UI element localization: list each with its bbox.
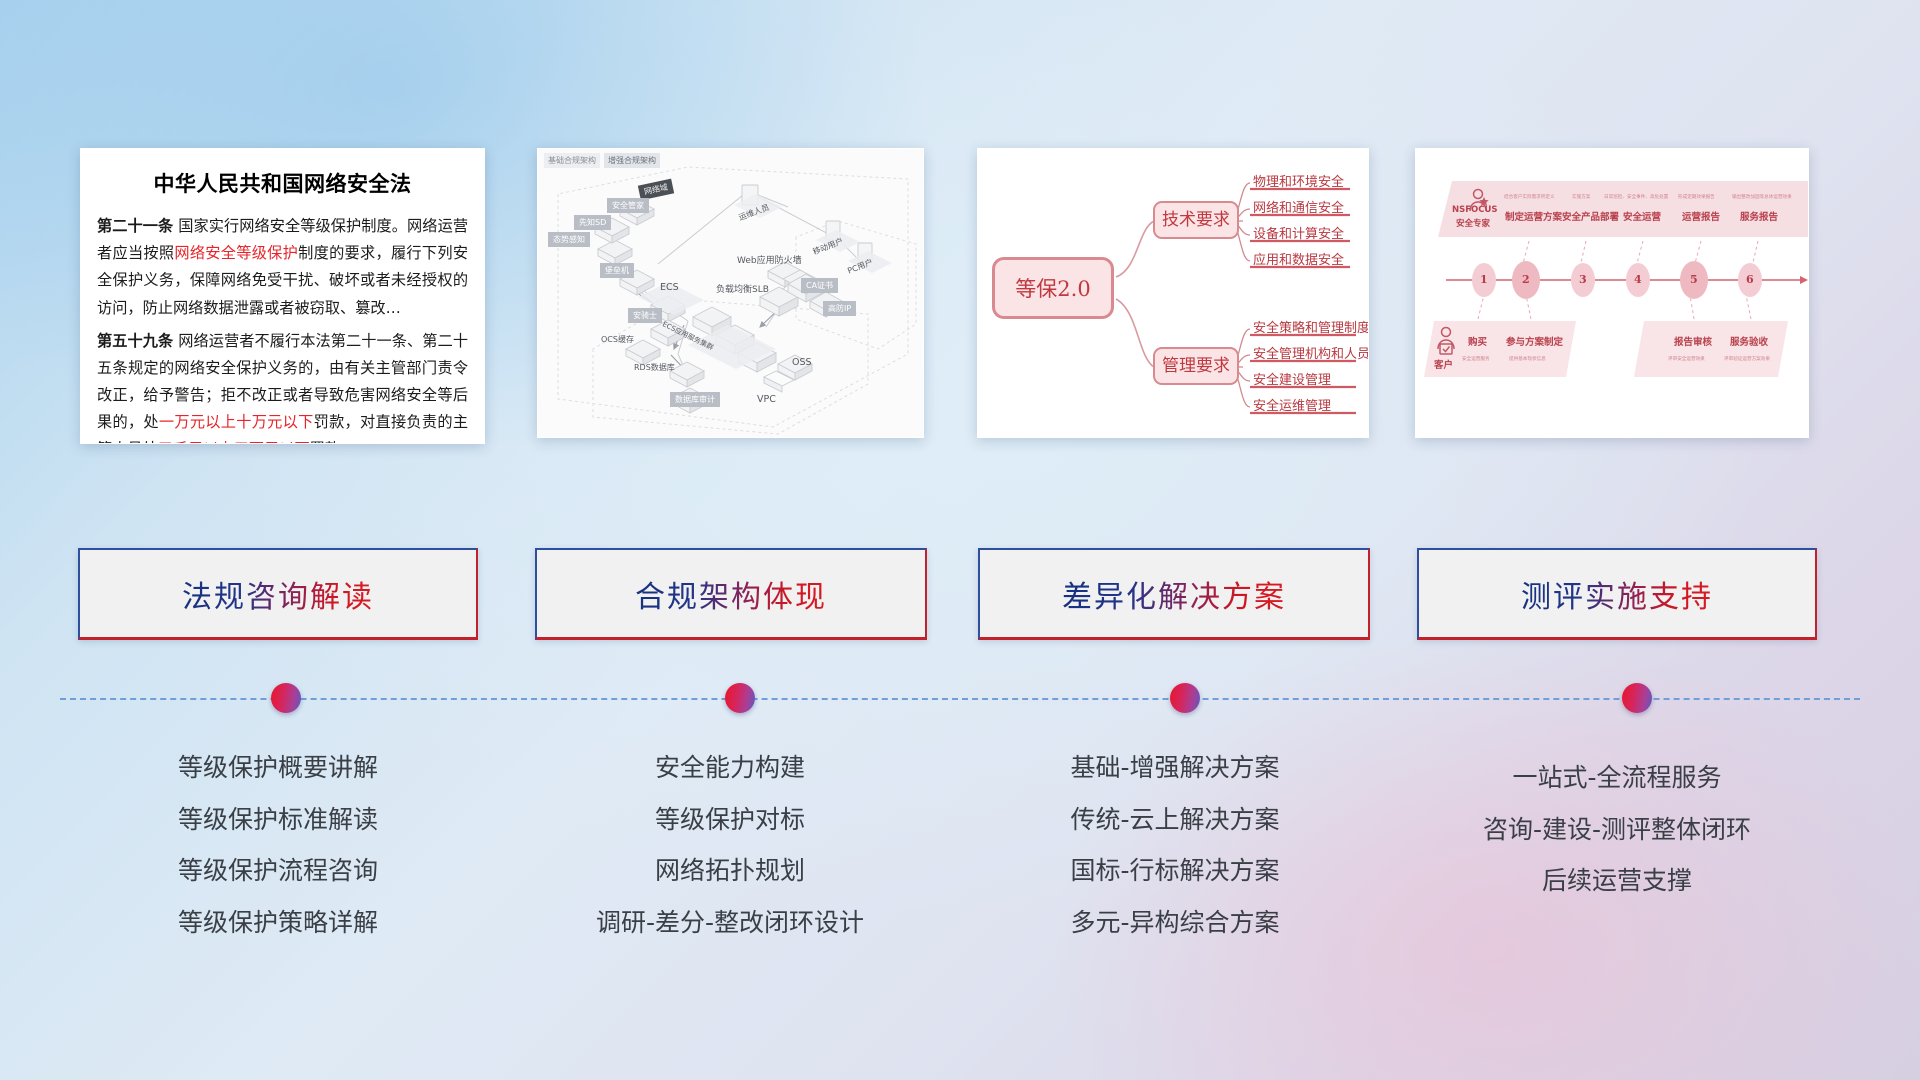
bottom-title-2: 参与方案制定 [1506, 334, 1563, 348]
list-item: 等级保护策略详解 [78, 897, 478, 949]
detail-column-4: 一站式-全流程服务 咨询-建设-测评整体闭环 后续运营支撑 [1412, 752, 1822, 907]
mindmap-branch-management: 管理要求 [1153, 347, 1239, 385]
card-nsfocus-process[interactable]: NSFOCUS 安全专家 客户 结合客户实际需求所定义 制定运营方案 实施方案 … [1415, 148, 1809, 438]
step-number-2: 2 [1522, 273, 1530, 286]
top-sub-4: 形成定期效果报告 [1678, 194, 1715, 200]
node-vpc: VPC [757, 394, 776, 405]
list-item: 传统-云上解决方案 [975, 794, 1375, 846]
timeline-axis [60, 698, 1860, 700]
list-item: 等级保护流程咨询 [78, 845, 478, 897]
law-article-59: 第五十九条 网络运营者不履行本法第二十一条、第二十五条规定的网络安全保护义务的，… [97, 328, 468, 444]
step-number-6: 6 [1746, 273, 1754, 286]
law-text-body: 中华人民共和国网络安全法 第二十一条 国家实行网络安全等级保护制度。网络运营者应… [81, 149, 484, 443]
mindmap-leaf-physical-env: 物理和环境安全 [1253, 171, 1344, 190]
timeline-dot-4 [1622, 683, 1652, 713]
mindmap-leaf-device-compute: 设备和计算安全 [1253, 223, 1344, 242]
bottom-sub-3: 评审安全运营效果 [1668, 356, 1705, 362]
list-item: 等级保护对标 [530, 794, 930, 846]
node-database-audit: 数据库审计 [670, 392, 720, 407]
list-item: 咨询-建设-测评整体闭环 [1412, 804, 1822, 856]
article-59-text-3: 罚款。 [310, 440, 356, 444]
list-item: 基础-增强解决方案 [975, 742, 1375, 794]
top-title-1: 制定运营方案 [1505, 209, 1562, 223]
title-box-row: 法规咨询解读 合规架构体现 差异化解决方案 测评实施支持 [0, 548, 1920, 644]
title-box-label: 合规架构体现 [635, 572, 827, 616]
timeline-dashed-line [60, 698, 1860, 700]
image-card-row: 中华人民共和国网络安全法 第二十一条 国家实行网络安全等级保护制度。网络运营者应… [0, 148, 1920, 448]
mindmap-leaf-policy-system: 安全策略和管理制度 [1253, 317, 1369, 336]
mindmap-leaf-org-personnel: 安全管理机构和人员 [1253, 343, 1369, 362]
node-ecs: ECS [660, 282, 679, 293]
top-title-2: 安全产品部署 [1562, 209, 1619, 223]
node-anti-ddos-ip: 高防IP [823, 301, 856, 316]
bottom-sub-4: 评审验证运营方案效果 [1724, 356, 1770, 362]
card-compliance-architecture[interactable]: 基础合规架构 增强合规架构 [537, 148, 924, 438]
list-item: 多元-异构综合方案 [975, 897, 1375, 949]
top-title-4: 运营报告 [1682, 209, 1720, 223]
mindmap-leaf-construction-mgmt: 安全建设管理 [1253, 369, 1331, 388]
node-ca-certificate: CA证书 [801, 278, 838, 293]
title-box-assessment-support[interactable]: 测评实施支持 [1417, 548, 1817, 640]
top-sub-3: 日常巡检、安全事件、高危处置 [1604, 194, 1668, 200]
timeline-dot-2 [725, 683, 755, 713]
top-sub-2: 实施方案 [1572, 194, 1590, 200]
list-item: 等级保护标准解读 [78, 794, 478, 846]
nsfocus-timeline-graphics [1416, 149, 1808, 437]
step-number-1: 1 [1480, 273, 1488, 286]
card-cybersecurity-law[interactable]: 中华人民共和国网络安全法 第二十一条 国家实行网络安全等级保护制度。网络运营者应… [80, 148, 485, 444]
slide-root: 中华人民共和国网络安全法 第二十一条 国家实行网络安全等级保护制度。网络运营者应… [0, 0, 1920, 1080]
node-bastion-host: 堡垒机 [600, 263, 634, 278]
top-sub-5: 输出整改加固等总体运营效果 [1732, 194, 1792, 200]
bottom-title-3: 报告审核 [1674, 334, 1712, 348]
card-dengbao-mindmap[interactable]: 等保2.0 技术要求 管理要求 物理和环境安全 网络和通信安全 设备和计算安全 … [977, 148, 1369, 438]
bottom-sub-1: 安全运营服务 [1462, 356, 1490, 362]
detail-column-1: 等级保护概要讲解 等级保护标准解读 等级保护流程咨询 等级保护策略详解 [78, 742, 478, 948]
node-slb: 负载均衡SLB [716, 282, 769, 295]
title-box-compliance-architecture[interactable]: 合规架构体现 [535, 548, 927, 640]
list-item: 后续运营支撑 [1412, 855, 1822, 907]
top-title-3: 安全运营 [1623, 209, 1661, 223]
mindmap-root-node: 等保2.0 [992, 257, 1114, 319]
bottom-title-1: 购买 [1468, 334, 1487, 348]
list-item: 安全能力构建 [530, 742, 930, 794]
mindmap-leaf-app-data: 应用和数据安全 [1253, 249, 1344, 268]
list-item: 等级保护概要讲解 [78, 742, 478, 794]
node-oss: OSS [792, 357, 812, 368]
node-xianzhi-sd: 先知SD [574, 215, 611, 230]
mindmap-branch-technical: 技术要求 [1153, 201, 1239, 239]
node-security-butler: 安全管家 [607, 198, 649, 213]
detail-column-3: 基础-增强解决方案 传统-云上解决方案 国标-行标解决方案 多元-异构综合方案 [975, 742, 1375, 948]
top-sub-1: 结合客户实际需求所定义 [1504, 194, 1555, 200]
mindmap-leaf-network-comm: 网络和通信安全 [1253, 197, 1344, 216]
timeline-dot-3 [1170, 683, 1200, 713]
title-box-label: 差异化解决方案 [1062, 572, 1286, 616]
step-number-5: 5 [1690, 273, 1698, 286]
detail-column-2: 安全能力构建 等级保护对标 网络拓扑规划 调研-差分-整改闭环设计 [530, 742, 930, 948]
list-item: 一站式-全流程服务 [1412, 752, 1822, 804]
node-ocs-cache: OCS缓存 [601, 334, 634, 345]
article-59-highlight-1: 一万元以上十万元以下 [159, 413, 314, 431]
node-rds-database: RDS数据库 [634, 362, 675, 373]
law-article-21: 第二十一条 国家实行网络安全等级保护制度。网络运营者应当按照网络安全等级保护制度… [97, 213, 468, 321]
expert-label-line2: 安全专家 [1456, 217, 1490, 229]
mindmap: 等保2.0 技术要求 管理要求 物理和环境安全 网络和通信安全 设备和计算安全 … [978, 149, 1368, 437]
bottom-sub-2: 提供基本现状信息 [1509, 356, 1546, 362]
expert-label-line1: NSFOCUS [1452, 205, 1498, 215]
step-number-3: 3 [1579, 273, 1587, 286]
node-situation-awareness: 态势感知 [548, 232, 590, 247]
title-box-regulation-consulting[interactable]: 法规咨询解读 [78, 548, 478, 640]
nsfocus-timeline: NSFOCUS 安全专家 客户 结合客户实际需求所定义 制定运营方案 实施方案 … [1416, 149, 1808, 437]
article-59-label: 第五十九条 [97, 332, 173, 350]
law-title: 中华人民共和国网络安全法 [97, 166, 468, 203]
step-number-4: 4 [1634, 273, 1642, 286]
list-item: 调研-差分-整改闭环设计 [530, 897, 930, 949]
customer-label: 客户 [1434, 357, 1453, 371]
timeline-dot-1 [271, 683, 301, 713]
title-box-label: 法规咨询解读 [182, 572, 374, 616]
node-waf: Web应用防火墙 [737, 253, 802, 266]
title-box-differentiated-solution[interactable]: 差异化解决方案 [978, 548, 1370, 640]
list-item: 国标-行标解决方案 [975, 845, 1375, 897]
article-21-highlight: 网络安全等级保护 [174, 244, 298, 262]
mindmap-leaf-ops-mgmt: 安全运维管理 [1253, 395, 1331, 414]
article-21-label: 第二十一条 [97, 217, 173, 235]
list-item: 网络拓扑规划 [530, 845, 930, 897]
bottom-title-4: 服务验收 [1730, 334, 1768, 348]
article-59-highlight-2: 五千元以上五万元以下 [158, 440, 310, 444]
top-title-5: 服务报告 [1740, 209, 1778, 223]
bottom-band-right [1634, 321, 1788, 377]
node-anqishi: 安骑士 [628, 308, 662, 323]
architecture-diagram: 基础合规架构 增强合规架构 [538, 149, 923, 437]
title-box-label: 测评实施支持 [1521, 572, 1713, 616]
